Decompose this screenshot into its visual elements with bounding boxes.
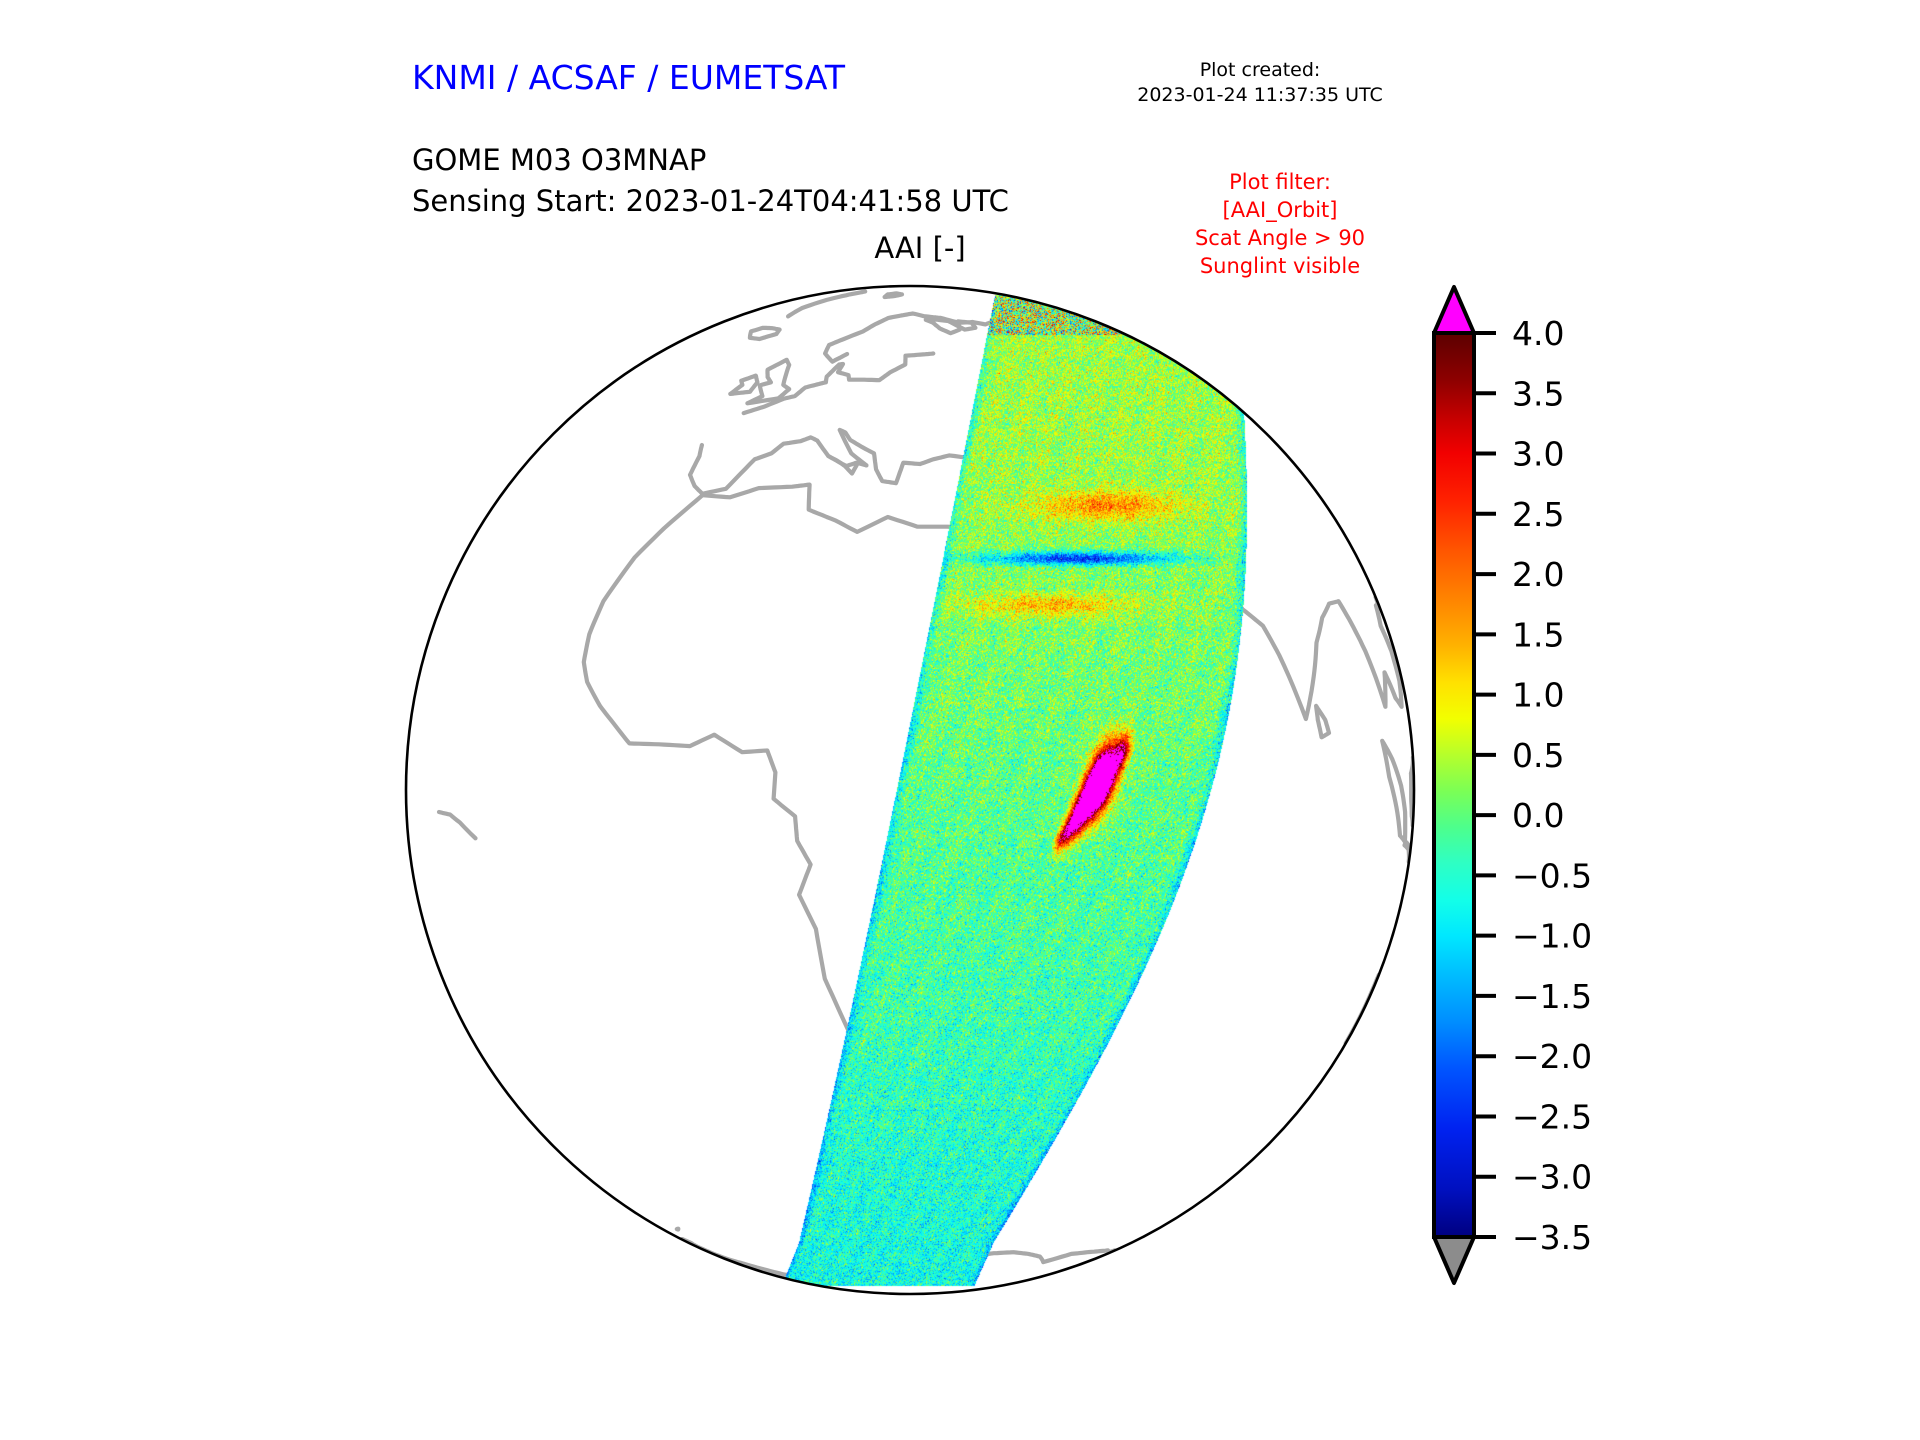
colorbar-over-arrow xyxy=(1434,287,1474,333)
colorbar-tick-label: 1.5 xyxy=(1512,615,1564,654)
colorbar-tick-label: 4.0 xyxy=(1512,314,1564,353)
globe-map xyxy=(395,275,1435,1310)
colorbar-tick-label: 1.0 xyxy=(1512,676,1564,715)
plot-filter-line-2: Scat Angle > 90 xyxy=(1100,224,1460,252)
plot-filter-block: Plot filter: [AAI_Orbit] Scat Angle > 90… xyxy=(1100,168,1460,280)
colorbar-ticks: 4.03.53.02.52.01.51.00.50.0−0.5−1.0−1.5−… xyxy=(1474,314,1592,1257)
plot-created-time: 2023-01-24 11:37:35 UTC xyxy=(1060,83,1460,108)
plot-created-block: Plot created: 2023-01-24 11:37:35 UTC xyxy=(1060,58,1460,108)
page-title: AAI [-] xyxy=(0,231,1840,265)
colorbar-tick-label: 0.5 xyxy=(1512,736,1564,775)
colorbar-tick-label: −3.0 xyxy=(1512,1158,1592,1197)
globe-map-svg xyxy=(395,275,1435,1310)
plot-page: KNMI / ACSAF / EUMETSAT GOME M03 O3MNAP … xyxy=(0,0,1920,1440)
colorbar-gradient xyxy=(1434,333,1474,1237)
colorbar-tick-label: 0.0 xyxy=(1512,796,1564,835)
colorbar-svg: 4.03.53.02.52.01.51.00.50.0−0.5−1.0−1.5−… xyxy=(1420,280,1840,1340)
colorbar-tick-label: −1.5 xyxy=(1512,977,1592,1016)
colorbar-tick-label: 2.0 xyxy=(1512,555,1564,594)
colorbar: 4.03.53.02.52.01.51.00.50.0−0.5−1.0−1.5−… xyxy=(1420,280,1840,1340)
colorbar-tick-label: −3.5 xyxy=(1512,1218,1592,1257)
product-title: GOME M03 O3MNAP xyxy=(412,140,706,181)
colorbar-tick-label: 3.0 xyxy=(1512,435,1564,474)
colorbar-tick-label: −2.0 xyxy=(1512,1037,1592,1076)
colorbar-tick-label: 2.5 xyxy=(1512,495,1564,534)
swath-raster xyxy=(395,275,1435,1310)
plot-created-label: Plot created: xyxy=(1060,58,1460,83)
colorbar-tick-label: 3.5 xyxy=(1512,374,1564,413)
colorbar-under-arrow xyxy=(1434,1237,1474,1283)
colorbar-tick-label: −2.5 xyxy=(1512,1097,1592,1136)
colorbar-tick-label: −0.5 xyxy=(1512,856,1592,895)
brand-title: KNMI / ACSAF / EUMETSAT xyxy=(412,58,845,97)
satellite-swath-layer xyxy=(395,275,1435,1310)
plot-filter-line-1: [AAI_Orbit] xyxy=(1100,196,1460,224)
sensing-start-label: Sensing Start: 2023-01-24T04:41:58 UTC xyxy=(412,184,1009,218)
plot-filter-line-0: Plot filter: xyxy=(1100,168,1460,196)
colorbar-tick-label: −1.0 xyxy=(1512,917,1592,956)
